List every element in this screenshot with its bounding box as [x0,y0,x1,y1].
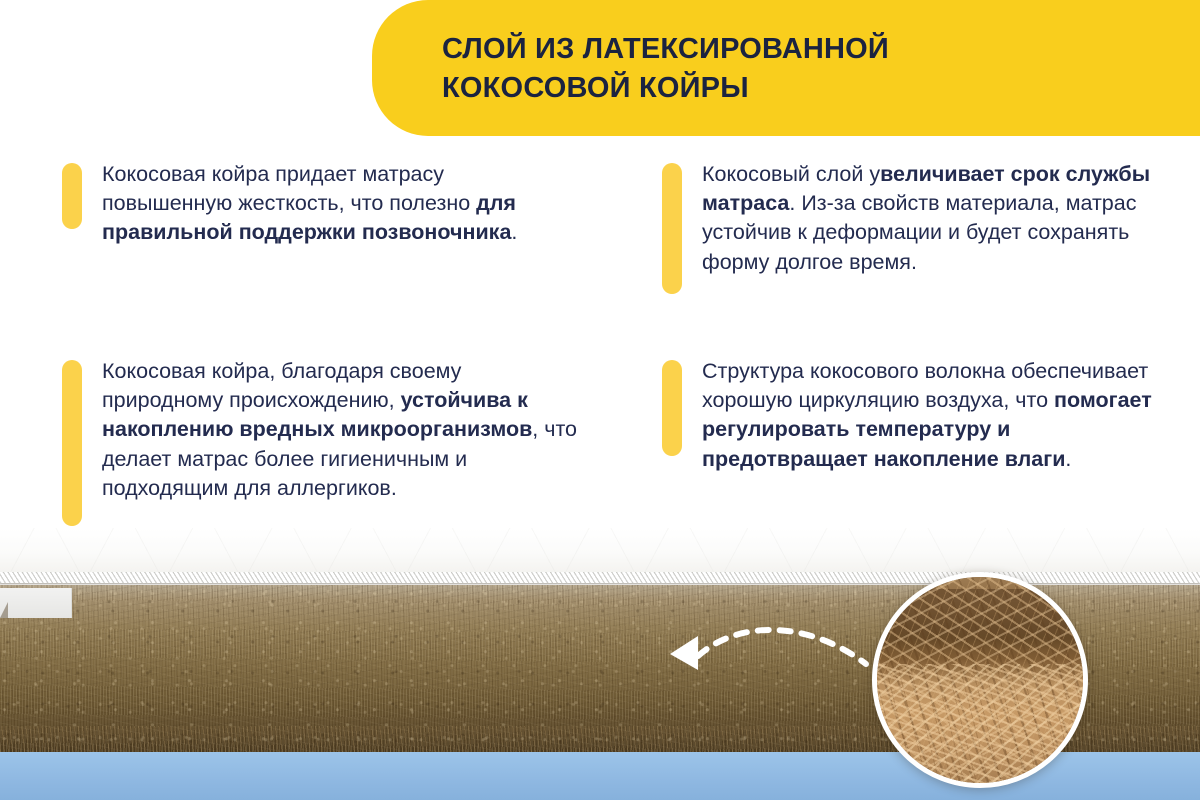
body-text: . [511,220,517,244]
accent-bar [662,163,682,294]
quilt-pattern [0,528,1200,573]
accent-bar [662,360,682,456]
feature-block-rigidity: Кокосовая койра придает матрасу повышенн… [62,163,622,248]
infographic-page: СЛОЙ ИЗ ЛАТЕКСИРОВАННОЙ КОКОСОВОЙ КОЙРЫ … [0,0,1200,800]
feature-text: Кокосовая койра придает матрасу повышенн… [102,160,572,248]
feature-text: Кокосовый слой увеличивает срок службы м… [702,160,1172,277]
accent-bar [62,360,82,526]
body-text: . [1065,447,1071,471]
mattress-edge-tab [0,588,72,618]
accent-bar [62,163,82,229]
feature-block-hygiene: Кокосовая койра, благодаря своему природ… [62,360,642,526]
body-text: Кокосовая койра придает матрасу повышенн… [102,162,476,215]
feature-text: Структура кокосового волокна обеспечивае… [702,357,1172,474]
mattress-corner-shadow [0,602,8,618]
feature-text: Кокосовая койра, благодаря своему природ… [102,357,587,503]
body-text: Кокосовый слой у [702,162,880,186]
feature-block-ventilation: Структура кокосового волокна обеспечивае… [662,360,1200,474]
coir-fiber-closeup [872,572,1088,788]
feature-block-durability: Кокосовый слой увеличивает срок службы м… [662,163,1200,294]
quilted-cover-layer [0,528,1200,573]
page-title: СЛОЙ ИЗ ЛАТЕКСИРОВАННОЙ КОКОСОВОЙ КОЙРЫ [442,30,889,107]
closeup-fiber-texture-lower [877,664,1083,783]
header-banner: СЛОЙ ИЗ ЛАТЕКСИРОВАННОЙ КОКОСОВОЙ КОЙРЫ [372,0,1200,136]
